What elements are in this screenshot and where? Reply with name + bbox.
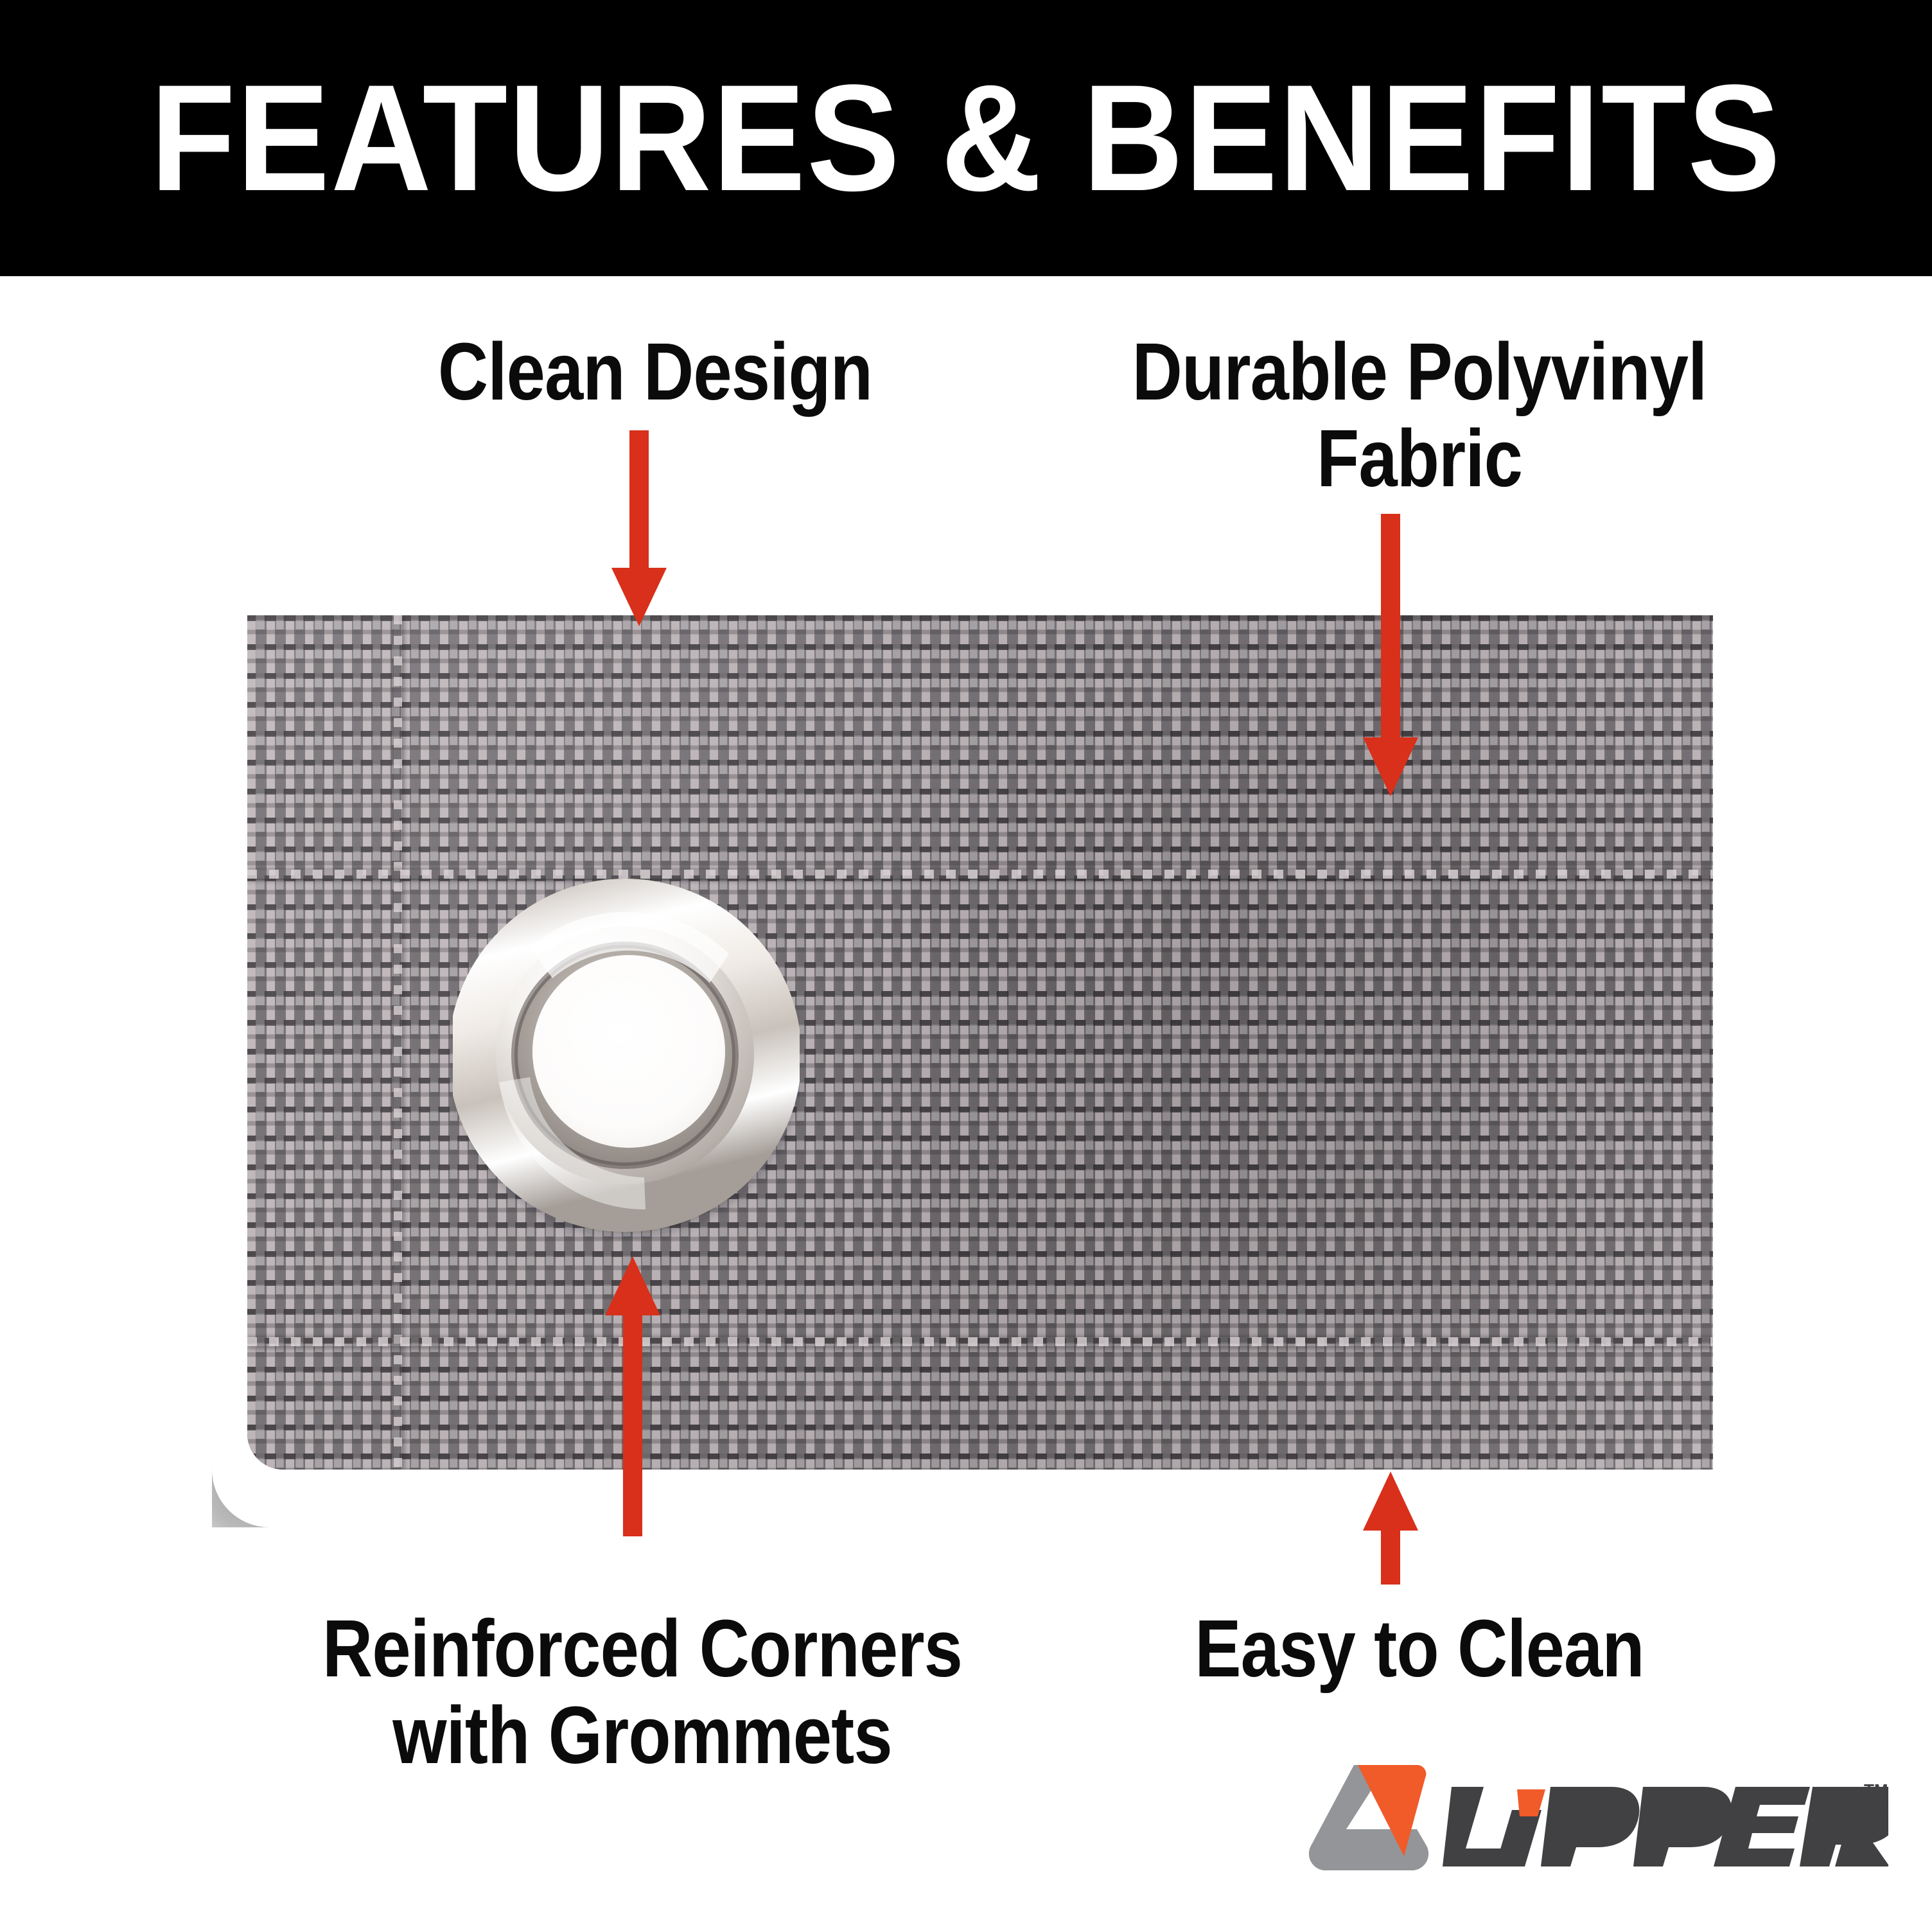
callout-line-1: Reinforced Corners — [322, 1603, 962, 1694]
callout-line-1: Easy to Clean — [1195, 1603, 1644, 1694]
arrow-down-icon — [604, 430, 674, 629]
trademark-symbol: TM — [1864, 1780, 1888, 1800]
callout-line-1: Clean Design — [438, 326, 872, 417]
product-photo-shadow — [212, 615, 1753, 1527]
lippert-i-dot-orange — [1517, 1789, 1545, 1816]
callout-label-clean-design: Clean Design — [357, 329, 954, 416]
callout-line-1: Durable Polyvinyl — [1132, 326, 1707, 417]
callout-label-reinforced-corners: Reinforced Corners with Grommets — [256, 1606, 1029, 1779]
callout-line-2: with Grommets — [256, 1692, 1029, 1779]
lippert-wordmark — [1443, 1787, 1888, 1866]
metal-grommet — [453, 870, 800, 1240]
callout-line-2: Fabric — [1105, 416, 1734, 502]
header-bar: FEATURES & BENEFITS — [0, 0, 1932, 276]
callout-label-durable-polyvinyl-fabric: Durable Polyvinyl Fabric — [1105, 329, 1734, 502]
lippert-logo: TM — [1291, 1760, 1888, 1882]
callout-label-easy-to-clean: Easy to Clean — [1105, 1606, 1734, 1692]
page-title: FEATURES & BENEFITS — [77, 0, 1854, 276]
